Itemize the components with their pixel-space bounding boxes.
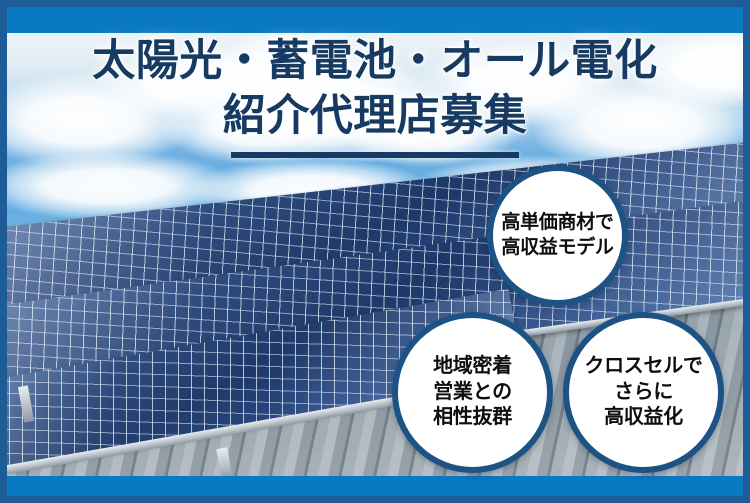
headline-line-2: 紹介代理店募集 [0,91,750,142]
headline-line-1: 太陽光・蓄電池・オール電化 [0,36,750,87]
badge-2-line-3: 相性抜群 [433,405,512,431]
headline-underline [231,152,519,158]
bottom-accent-band [7,476,743,496]
badge-local-sales-fit: 地域密着 営業との 相性抜群 [392,312,553,473]
badge-high-unit-price: 高単価商材で 高収益モデル [487,165,628,306]
headline-block: 太陽光・蓄電池・オール電化 紹介代理店募集 [0,36,750,158]
badge-2-line-2: 営業との [433,380,512,406]
badge-3-line-1: クロスセルで [584,354,702,380]
badge-3-line-3: 高収益化 [604,405,683,431]
badge-3-line-2: さらに [614,380,673,406]
badge-2-line-1: 地域密着 [433,354,512,380]
badge-1-line-2: 高収益モデル [501,236,613,260]
panel-mount-leg-right [216,447,232,476]
promo-banner: 太陽光・蓄電池・オール電化 紹介代理店募集 高単価商材で 高収益モデル 地域密着… [0,0,750,503]
top-accent-band [7,7,743,33]
badge-1-line-1: 高単価商材で [501,211,613,235]
badge-cross-sell: クロスセルで さらに 高収益化 [563,312,724,473]
